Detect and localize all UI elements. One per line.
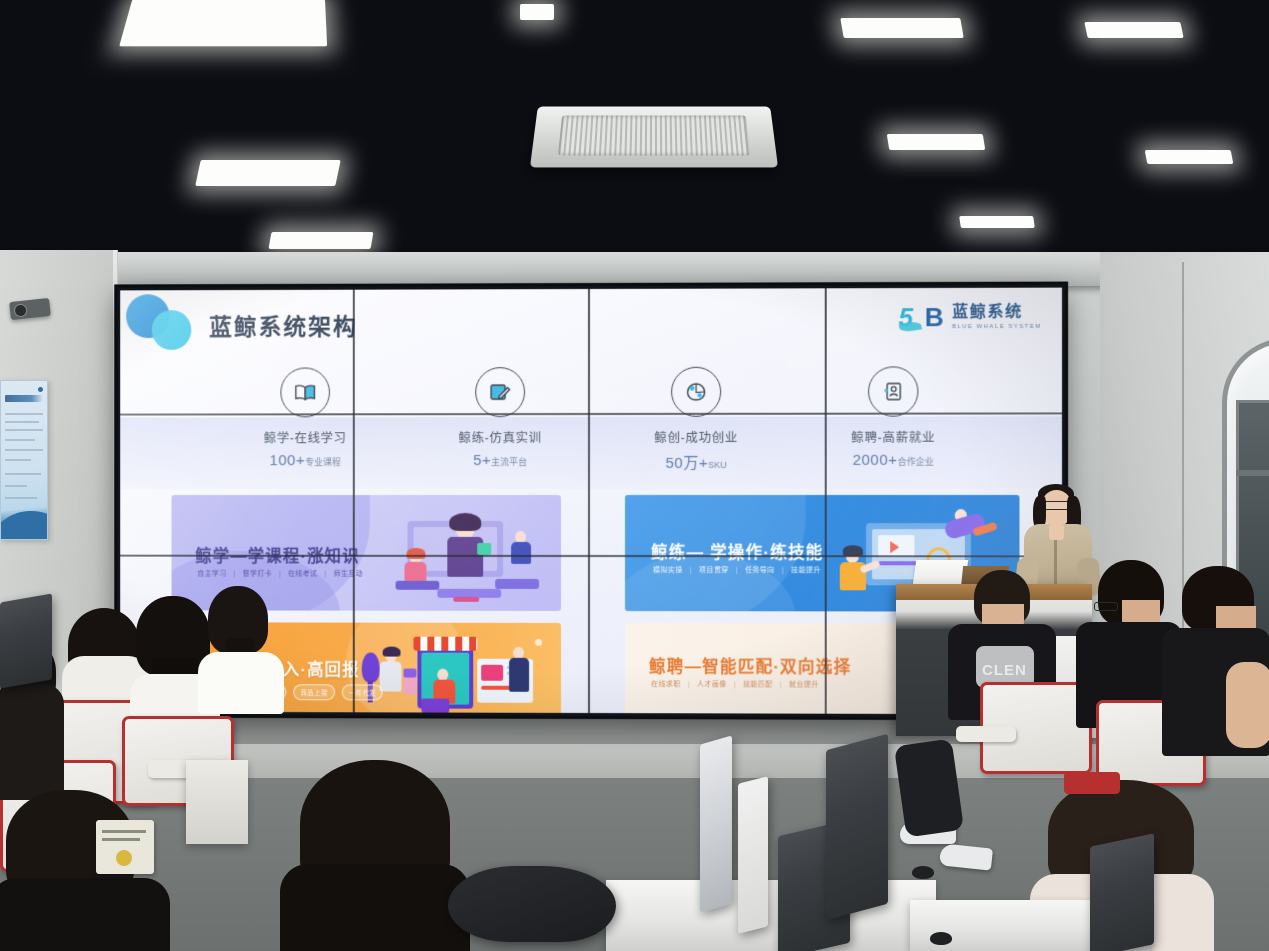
card-tag: 项目贯穿 — [699, 565, 729, 575]
column-name: 鲸创-成功创业 — [596, 427, 797, 446]
poster-wave — [0, 511, 48, 540]
wall-poster — [0, 380, 48, 540]
student — [1168, 566, 1269, 754]
brand-lockup: 5 B 蓝鲸系统 BLUE WHALE SYSTEM — [898, 300, 1041, 335]
ceiling-light — [887, 134, 986, 150]
ceiling-light — [119, 0, 327, 46]
card-tag: 任务导向 — [745, 565, 775, 575]
monitor — [700, 735, 732, 912]
monitor — [0, 593, 52, 688]
stat-plus: + — [296, 452, 305, 469]
ceiling-beam — [0, 252, 1269, 286]
card-tag: 在线求职 — [651, 679, 681, 689]
shirt-text: CLEN — [982, 662, 1027, 679]
monitor — [738, 776, 768, 933]
stat-plus: + — [888, 452, 897, 469]
shop-icon-glyph — [685, 382, 707, 402]
card-tag: 技能匹配 — [743, 679, 773, 689]
computer-desk — [186, 760, 248, 844]
ceiling-light — [1145, 150, 1234, 164]
window-sash — [1236, 470, 1269, 476]
stat-unit: 合作企业 — [898, 457, 934, 467]
card-title: 鲸聘—智能匹配·双向选择 — [649, 653, 851, 678]
card-tag: 模拟实操 — [653, 565, 683, 575]
column-jinglian: 鲸练-仿真实训 5+主流平台 — [401, 427, 600, 469]
card-tag-pill: 一件代发 — [342, 684, 383, 700]
stat-unit: SKU — [708, 460, 727, 470]
stat-value: 5 — [473, 452, 482, 469]
poster-title-bar — [5, 395, 43, 402]
shop-icon — [671, 367, 721, 417]
stat-value: 100 — [270, 452, 296, 469]
tote-bag-text — [102, 838, 140, 841]
glasses-icon — [1094, 602, 1118, 611]
column-name: 鲸学-在线学习 — [206, 427, 404, 446]
stat-value: 50万 — [666, 455, 699, 472]
card-tag: 师生互动 — [333, 569, 362, 579]
stat-unit: 主流平台 — [491, 457, 527, 467]
poster-text-line — [5, 449, 43, 451]
column-labels: 鲸学-在线学习 100+专业课程 鲸练-仿真实训 5+主流平台 鲸创-成功创业 … — [120, 427, 1062, 484]
panel-seam-vertical — [588, 289, 590, 713]
card-tag: 督学打卡 — [243, 569, 272, 579]
edit-icon — [475, 367, 525, 417]
column-jingchuang: 鲸创-成功创业 50万+SKU — [596, 427, 797, 473]
stat-plus: + — [482, 452, 491, 469]
poster-text-line — [5, 459, 31, 461]
edit-icon-glyph — [489, 382, 511, 402]
monitor — [826, 734, 888, 921]
student — [280, 760, 470, 951]
computer-mouse — [930, 932, 952, 945]
ceiling-light — [195, 160, 341, 186]
chair-seat-red — [1064, 772, 1120, 794]
panel-seam-vertical — [825, 288, 827, 713]
card-tags: 模拟实操| 项目贯穿| 任务导向| 技能提升 — [653, 565, 821, 575]
student — [198, 586, 284, 714]
poster-text-line — [5, 497, 37, 499]
stat-unit: 专业课程 — [305, 457, 341, 467]
ceiling-light — [1084, 22, 1183, 38]
column-stat: 5+主流平台 — [401, 452, 600, 469]
ceiling-light — [269, 232, 374, 249]
card-tag-pill: 商品上架 — [293, 684, 334, 700]
column-stat: 50万+SKU — [596, 452, 797, 473]
stat-plus: + — [699, 455, 708, 472]
classroom-scene: 蓝鲸系统架构 5 B 蓝鲸系统 BLUE WHALE SYSTEM — [0, 0, 1269, 951]
column-stat: 100+专业课程 — [206, 452, 404, 469]
book-icon-glyph — [294, 383, 316, 401]
stat-value: 2000 — [853, 452, 889, 469]
resume-icon-glyph — [882, 381, 904, 401]
ceiling-light — [959, 216, 1035, 228]
poster-text-line — [5, 421, 39, 423]
ac-grille — [558, 116, 750, 156]
brand-name-en: BLUE WHALE SYSTEM — [952, 323, 1042, 329]
panel-seam-vertical — [353, 290, 355, 713]
chair-arm — [956, 726, 1016, 742]
brand-mark-icon: 5 B — [898, 300, 944, 334]
brand-mark-b: B — [925, 302, 943, 333]
poster-text-line — [5, 413, 43, 415]
slide-title: 蓝鲸系统架构 — [209, 308, 358, 342]
resume-icon — [868, 366, 918, 416]
column-name: 鲸练-仿真实训 — [401, 427, 600, 446]
monitor — [1090, 833, 1154, 951]
card-tag: 在线考试 — [288, 569, 317, 579]
card-title: 鲸练— 学操作·练技能 — [651, 539, 823, 563]
column-stat: 2000+合作企业 — [793, 452, 995, 469]
poster-text-line — [5, 439, 35, 441]
poster-logo-dot — [38, 387, 43, 392]
whale-logo-icon — [126, 294, 197, 350]
book-icon — [280, 367, 330, 417]
poster-text-line — [5, 473, 41, 475]
column-jingpin: 鲸聘-高薪就业 2000+合作企业 — [793, 427, 995, 469]
computer-mouse — [912, 866, 934, 879]
card-illustration — [360, 629, 543, 715]
column-jingxue: 鲸学-在线学习 100+专业课程 — [206, 427, 404, 469]
poster-text-line — [5, 429, 43, 431]
ceiling-light — [840, 18, 964, 38]
card-tag: 技能提升 — [791, 565, 821, 575]
backpack — [448, 866, 616, 942]
column-name: 鲸聘-高薪就业 — [793, 427, 995, 446]
ceiling-light — [520, 4, 554, 20]
card-tags: 自主学习| 督学打卡| 在线考试| 师生互动 — [197, 569, 363, 579]
brand-name-cn: 蓝鲸系统 — [952, 304, 1042, 320]
card-tag: 自主学习 — [197, 569, 226, 579]
air-conditioner-unit — [530, 107, 778, 168]
tote-bag-logo-icon — [116, 850, 132, 866]
card-tags: 在线求职| 人才画像| 技能匹配| 就业提升 — [651, 679, 819, 689]
card-tag: 人才画像 — [697, 679, 727, 689]
poster-text-line — [5, 485, 27, 487]
card-tag: 就业提升 — [789, 679, 819, 689]
tote-bag-text — [102, 830, 146, 833]
